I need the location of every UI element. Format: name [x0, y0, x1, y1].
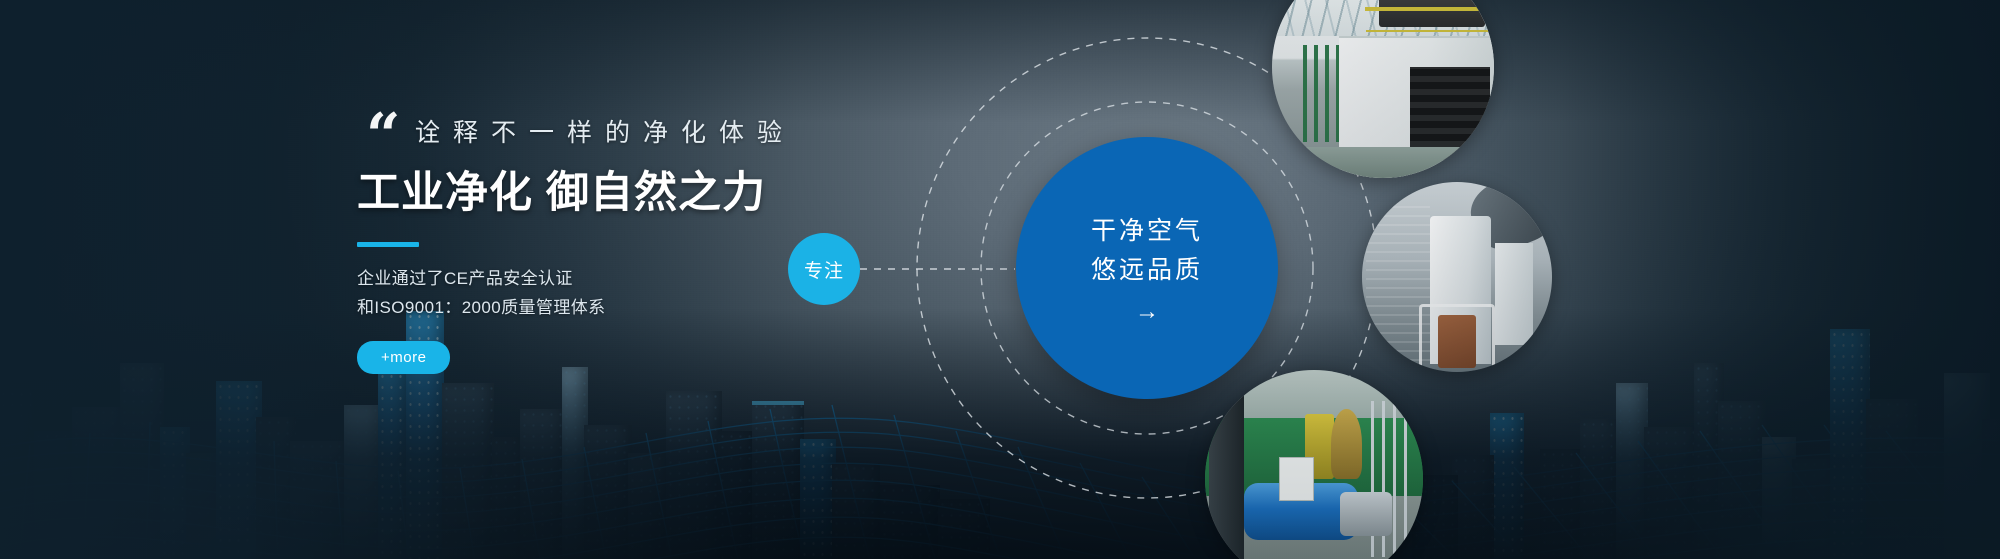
pipe-valve-equipment-photo[interactable] — [1205, 370, 1423, 559]
main-circle-line-1: 干净空气 — [1091, 212, 1203, 251]
accent-rule — [357, 242, 419, 247]
textile-machinery-photo[interactable] — [1362, 182, 1552, 372]
hero-text-block: “ 诠释不一样的净化体验 工业净化 御自然之力 企业通过了CE产品安全认证 和I… — [357, 118, 877, 374]
arrow-right-icon: → — [1135, 300, 1159, 324]
graphic-cluster: 专注 干净空气 悠远品质 → — [760, 0, 2000, 559]
photo-tint-overlay — [1362, 182, 1552, 372]
hero-subtitle: 诠释不一样的净化体验 — [415, 118, 877, 148]
main-slogan-circle[interactable]: 干净空气 悠远品质 → — [1016, 137, 1278, 399]
main-circle-line-2: 悠远品质 — [1091, 251, 1203, 290]
hero-body-line-1: 企业通过了CE产品安全认证 — [357, 265, 877, 294]
photo-tint-overlay — [1205, 370, 1423, 559]
photo-tint-overlay — [1272, 0, 1494, 178]
hero-banner: 专注 干净空气 悠远品质 → — [0, 0, 2000, 559]
hero-body-line-2: 和ISO9001：2000质量管理体系 — [357, 294, 877, 323]
quote-mark-icon: “ — [366, 106, 399, 166]
more-button[interactable]: +more — [357, 341, 450, 374]
hero-headline: 工业净化 御自然之力 — [357, 158, 877, 220]
hero-body-text: 企业通过了CE产品安全认证 和ISO9001：2000质量管理体系 — [357, 265, 877, 323]
factory-workshop-photo[interactable] — [1272, 0, 1494, 178]
